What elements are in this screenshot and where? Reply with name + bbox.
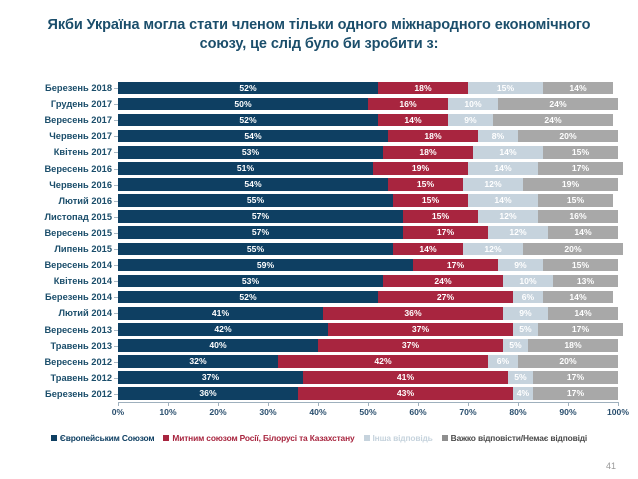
segment-hard-to-say: 19%	[523, 178, 618, 191]
segment-customs-union: 18%	[378, 82, 468, 95]
legend-label: Європейським Союзом	[60, 433, 155, 443]
stacked-bar: 41%36%9%14%	[118, 307, 618, 320]
segment-eu: 50%	[118, 98, 368, 111]
stacked-bar: 52%18%15%14%	[118, 82, 618, 95]
segment-eu: 54%	[118, 178, 388, 191]
chart-row: Липень 201555%14%12%20%	[0, 241, 638, 257]
segment-other-answer: 5%	[513, 323, 538, 336]
chart-row: Травень 201237%41%5%17%	[0, 370, 638, 386]
legend-swatch-icon	[364, 435, 370, 441]
segment-other-answer: 12%	[488, 226, 548, 239]
legend-item-other-answer[interactable]: Інша відповідь	[364, 433, 433, 443]
segment-eu: 51%	[118, 162, 373, 175]
segment-eu: 53%	[118, 275, 383, 288]
legend-item-eu[interactable]: Європейським Союзом	[51, 433, 155, 443]
stacked-bar: 54%18%8%20%	[118, 130, 618, 143]
x-axis-label: 60%	[396, 407, 440, 417]
segment-eu: 32%	[118, 355, 278, 368]
category-label: Вересень 2013	[0, 322, 112, 338]
page-title: Якби Україна могла стати членом тільки о…	[40, 16, 598, 54]
segment-hard-to-say: 14%	[543, 82, 613, 95]
segment-customs-union: 36%	[323, 307, 503, 320]
category-label: Вересень 2014	[0, 257, 112, 273]
segment-eu: 57%	[118, 226, 403, 239]
segment-customs-union: 42%	[278, 355, 488, 368]
segment-other-answer: 12%	[478, 210, 538, 223]
stacked-bar: 53%24%10%13%	[118, 275, 618, 288]
segment-customs-union: 27%	[378, 291, 513, 304]
chart-row: Березень 201236%43%4%17%	[0, 386, 638, 402]
segment-customs-union: 41%	[303, 371, 508, 384]
x-axis-label: 90%	[546, 407, 590, 417]
segment-hard-to-say: 20%	[518, 355, 618, 368]
category-label: Лютий 2014	[0, 305, 112, 321]
segment-hard-to-say: 17%	[538, 162, 623, 175]
category-label: Вересень 2017	[0, 112, 112, 128]
segment-hard-to-say: 17%	[533, 387, 618, 400]
x-axis-label: 10%	[146, 407, 190, 417]
x-axis-tick	[268, 402, 269, 406]
segment-other-answer: 4%	[513, 387, 533, 400]
x-axis-label: 0%	[96, 407, 140, 417]
stacked-bar: 36%43%4%17%	[118, 387, 618, 400]
x-axis-tick	[118, 402, 119, 406]
x-axis-tick	[518, 402, 519, 406]
segment-customs-union: 16%	[368, 98, 448, 111]
segment-eu: 54%	[118, 130, 388, 143]
chart-row: Вересень 201557%17%12%14%	[0, 225, 638, 241]
segment-customs-union: 14%	[378, 114, 448, 127]
segment-hard-to-say: 15%	[538, 194, 613, 207]
segment-customs-union: 43%	[298, 387, 513, 400]
segment-customs-union: 24%	[383, 275, 503, 288]
segment-hard-to-say: 14%	[548, 226, 618, 239]
segment-hard-to-say: 18%	[528, 339, 618, 352]
segment-hard-to-say: 15%	[543, 146, 618, 159]
segment-other-answer: 10%	[448, 98, 498, 111]
segment-hard-to-say: 20%	[523, 243, 623, 256]
segment-eu: 36%	[118, 387, 298, 400]
segment-other-answer: 14%	[468, 194, 538, 207]
chart-row: Вересень 201651%19%14%17%	[0, 161, 638, 177]
x-axis-label: 40%	[296, 407, 340, 417]
x-axis-label: 100%	[596, 407, 638, 417]
category-label: Квітень 2017	[0, 144, 112, 160]
stacked-bar: 52%27%6%14%	[118, 291, 618, 304]
segment-customs-union: 15%	[393, 194, 468, 207]
legend-item-hard-to-say[interactable]: Важко відповісти/Немає відповіді	[442, 433, 587, 443]
segment-eu: 40%	[118, 339, 318, 352]
segment-hard-to-say: 24%	[498, 98, 618, 111]
category-label: Березень 2018	[0, 80, 112, 96]
segment-eu: 41%	[118, 307, 323, 320]
stacked-bar: 55%14%12%20%	[118, 243, 618, 256]
segment-eu: 59%	[118, 259, 413, 272]
segment-other-answer: 14%	[473, 146, 543, 159]
x-axis-tick	[468, 402, 469, 406]
stacked-bar: 57%15%12%16%	[118, 210, 618, 223]
segment-customs-union: 17%	[403, 226, 488, 239]
stacked-bar: 53%18%14%15%	[118, 146, 618, 159]
segment-other-answer: 6%	[513, 291, 543, 304]
segment-eu: 57%	[118, 210, 403, 223]
segment-hard-to-say: 16%	[538, 210, 618, 223]
category-label: Грудень 2017	[0, 96, 112, 112]
stacked-bar: 37%41%5%17%	[118, 371, 618, 384]
stacked-bar: 50%16%10%24%	[118, 98, 618, 111]
stacked-bar: 42%37%5%17%	[118, 323, 618, 336]
x-axis-tick	[318, 402, 319, 406]
x-axis-label: 30%	[246, 407, 290, 417]
legend-swatch-icon	[442, 435, 448, 441]
x-axis-label: 50%	[346, 407, 390, 417]
stacked-bar: 52%14%9%24%	[118, 114, 618, 127]
segment-other-answer: 8%	[478, 130, 518, 143]
category-label: Березень 2012	[0, 386, 112, 402]
chart-row: Лютий 201441%36%9%14%	[0, 305, 638, 321]
segment-hard-to-say: 15%	[543, 259, 618, 272]
segment-eu: 42%	[118, 323, 328, 336]
category-label: Вересень 2012	[0, 354, 112, 370]
category-label: Травень 2013	[0, 338, 112, 354]
chart-legend: Європейським СоюзомМитним союзом Росії, …	[0, 428, 638, 448]
segment-customs-union: 18%	[383, 146, 473, 159]
category-label: Вересень 2016	[0, 161, 112, 177]
segment-other-answer: 14%	[468, 162, 538, 175]
segment-eu: 37%	[118, 371, 303, 384]
chart-row: Вересень 201459%17%9%15%	[0, 257, 638, 273]
legend-swatch-icon	[51, 435, 57, 441]
segment-customs-union: 17%	[413, 259, 498, 272]
chart-row: Червень 201654%15%12%19%	[0, 177, 638, 193]
segment-hard-to-say: 14%	[543, 291, 613, 304]
chart-row: Лютий 201655%15%14%15%	[0, 193, 638, 209]
legend-swatch-icon	[163, 435, 169, 441]
segment-customs-union: 19%	[373, 162, 468, 175]
category-label: Березень 2014	[0, 289, 112, 305]
segment-other-answer: 12%	[463, 178, 523, 191]
segment-eu: 55%	[118, 194, 393, 207]
chart-row: Квітень 201453%24%10%13%	[0, 273, 638, 289]
chart-row: Вересень 201232%42%6%20%	[0, 354, 638, 370]
segment-customs-union: 37%	[318, 339, 503, 352]
category-label: Вересень 2015	[0, 225, 112, 241]
segment-hard-to-say: 24%	[493, 114, 613, 127]
x-axis-tick	[418, 402, 419, 406]
segment-hard-to-say: 14%	[548, 307, 618, 320]
x-axis-label: 70%	[446, 407, 490, 417]
segment-customs-union: 37%	[328, 323, 513, 336]
chart-row: Березень 201852%18%15%14%	[0, 80, 638, 96]
x-axis-label: 80%	[496, 407, 540, 417]
segment-other-answer: 9%	[503, 307, 548, 320]
segment-other-answer: 15%	[468, 82, 543, 95]
segment-customs-union: 15%	[403, 210, 478, 223]
stacked-bar: 32%42%6%20%	[118, 355, 618, 368]
segment-eu: 52%	[118, 82, 378, 95]
segment-other-answer: 12%	[463, 243, 523, 256]
category-label: Квітень 2014	[0, 273, 112, 289]
segment-customs-union: 18%	[388, 130, 478, 143]
page-number: 41	[606, 461, 616, 471]
stacked-bar: 51%19%14%17%	[118, 162, 618, 175]
chart-row: Квітень 201753%18%14%15%	[0, 144, 638, 160]
chart-row: Листопад 201557%15%12%16%	[0, 209, 638, 225]
x-axis-tick	[618, 402, 619, 406]
stacked-bar: 54%15%12%19%	[118, 178, 618, 191]
segment-other-answer: 10%	[503, 275, 553, 288]
x-axis-tick	[168, 402, 169, 406]
x-axis-label: 20%	[196, 407, 240, 417]
segment-other-answer: 6%	[488, 355, 518, 368]
segment-eu: 52%	[118, 114, 378, 127]
segment-eu: 55%	[118, 243, 393, 256]
chart-plot-area: Березень 201852%18%15%14%Грудень 201750%…	[0, 80, 638, 402]
segment-other-answer: 5%	[503, 339, 528, 352]
chart-row: Червень 201754%18%8%20%	[0, 128, 638, 144]
chart-row: Березень 201452%27%6%14%	[0, 289, 638, 305]
legend-item-customs-union[interactable]: Митним союзом Росії, Білорусі та Казахст…	[163, 433, 354, 443]
legend-label: Інша відповідь	[373, 433, 433, 443]
category-label: Лютий 2016	[0, 193, 112, 209]
segment-other-answer: 9%	[448, 114, 493, 127]
stacked-bar: 55%15%14%15%	[118, 194, 618, 207]
segment-other-answer: 9%	[498, 259, 543, 272]
stacked-bar: 59%17%9%15%	[118, 259, 618, 272]
category-label: Червень 2017	[0, 128, 112, 144]
segment-hard-to-say: 17%	[538, 323, 623, 336]
category-label: Травень 2012	[0, 370, 112, 386]
segment-hard-to-say: 17%	[533, 371, 618, 384]
chart-row: Вересень 201752%14%9%24%	[0, 112, 638, 128]
category-label: Червень 2016	[0, 177, 112, 193]
stacked-bar: 40%37%5%18%	[118, 339, 618, 352]
legend-label: Митним союзом Росії, Білорусі та Казахст…	[172, 433, 354, 443]
x-axis-tick	[218, 402, 219, 406]
chart-row: Вересень 201342%37%5%17%	[0, 322, 638, 338]
x-axis-tick	[368, 402, 369, 406]
chart-row: Травень 201340%37%5%18%	[0, 338, 638, 354]
segment-hard-to-say: 20%	[518, 130, 618, 143]
segment-customs-union: 14%	[393, 243, 463, 256]
segment-other-answer: 5%	[508, 371, 533, 384]
category-label: Листопад 2015	[0, 209, 112, 225]
segment-customs-union: 15%	[388, 178, 463, 191]
segment-hard-to-say: 13%	[553, 275, 618, 288]
category-label: Липень 2015	[0, 241, 112, 257]
chart-row: Грудень 201750%16%10%24%	[0, 96, 638, 112]
x-axis-tick	[568, 402, 569, 406]
segment-eu: 53%	[118, 146, 383, 159]
stacked-bar: 57%17%12%14%	[118, 226, 618, 239]
legend-label: Важко відповісти/Немає відповіді	[451, 433, 587, 443]
segment-eu: 52%	[118, 291, 378, 304]
